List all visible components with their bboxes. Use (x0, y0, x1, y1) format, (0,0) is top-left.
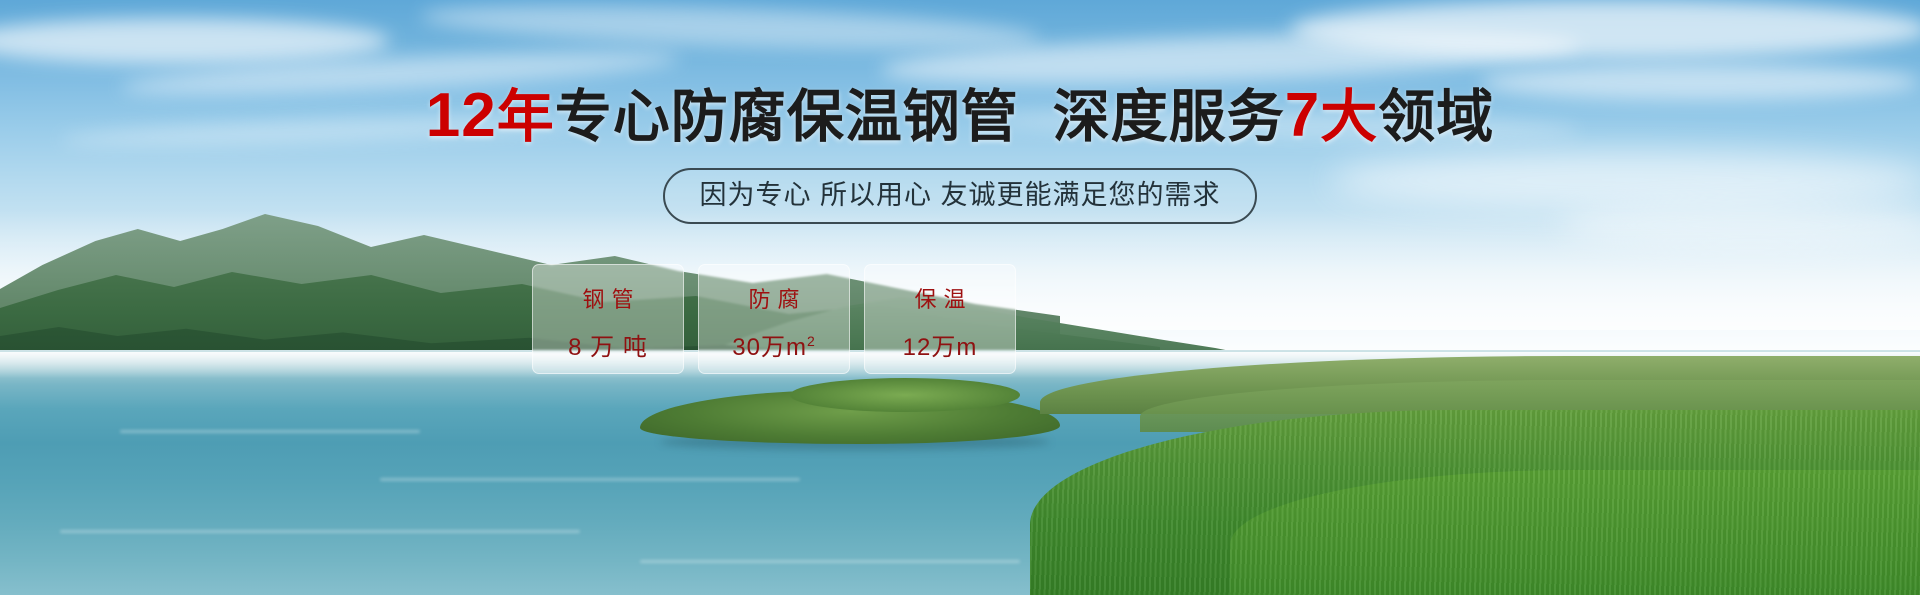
stat-card-value-sup: 2 (807, 333, 816, 349)
water-ripple (640, 560, 1020, 563)
water-ripple (120, 430, 420, 433)
stat-card-label: 保温 (907, 287, 972, 313)
headline-years-unit: 年 (497, 85, 555, 149)
cloud-shape (1290, 0, 1920, 58)
stat-card-steel-pipe[interactable]: 钢管 8 万 吨 (532, 264, 684, 374)
stat-card-value: 12万m (903, 327, 978, 362)
headline-fields-number: 7 (1285, 81, 1320, 150)
stat-card-label: 防腐 (741, 287, 806, 313)
headline-service-phrase: 深度服务 (1053, 85, 1285, 149)
headline-fields-unit: 大 (1320, 85, 1378, 149)
stat-card-group: 钢管 8 万 吨 防腐 30万m2 保温 12万m (532, 264, 1016, 374)
stat-card-label: 钢管 (575, 287, 640, 313)
headline-main-phrase: 专心防腐保温钢管 (555, 85, 1019, 149)
headline-years-number: 12 (426, 81, 497, 150)
stat-card-value: 8 万 吨 (568, 327, 648, 362)
stat-card-value-text: 30万m (732, 334, 807, 361)
promo-banner: 12年专心防腐保温钢管深度服务7大领域 因为专心 所以用心 友诚更能满足您的需求… (0, 0, 1920, 595)
water-ripple (380, 478, 800, 481)
subtitle-pill: 因为专心 所以用心 友诚更能满足您的需求 (663, 168, 1256, 224)
page-title: 12年专心防腐保温钢管深度服务7大领域 (0, 84, 1920, 149)
stat-card-insulation[interactable]: 保温 12万m (864, 264, 1016, 374)
subtitle-container: 因为专心 所以用心 友诚更能满足您的需求 (0, 168, 1920, 224)
stat-card-value: 30万m2 (732, 327, 815, 362)
headline-fields-label: 领域 (1378, 85, 1494, 149)
stat-card-value-text: 12万m (903, 334, 978, 361)
stat-card-anticorrosion[interactable]: 防腐 30万m2 (698, 264, 850, 374)
stat-card-value-text: 8 万 吨 (568, 334, 648, 361)
water-ripple (60, 530, 580, 533)
grass-island-top (790, 378, 1020, 412)
